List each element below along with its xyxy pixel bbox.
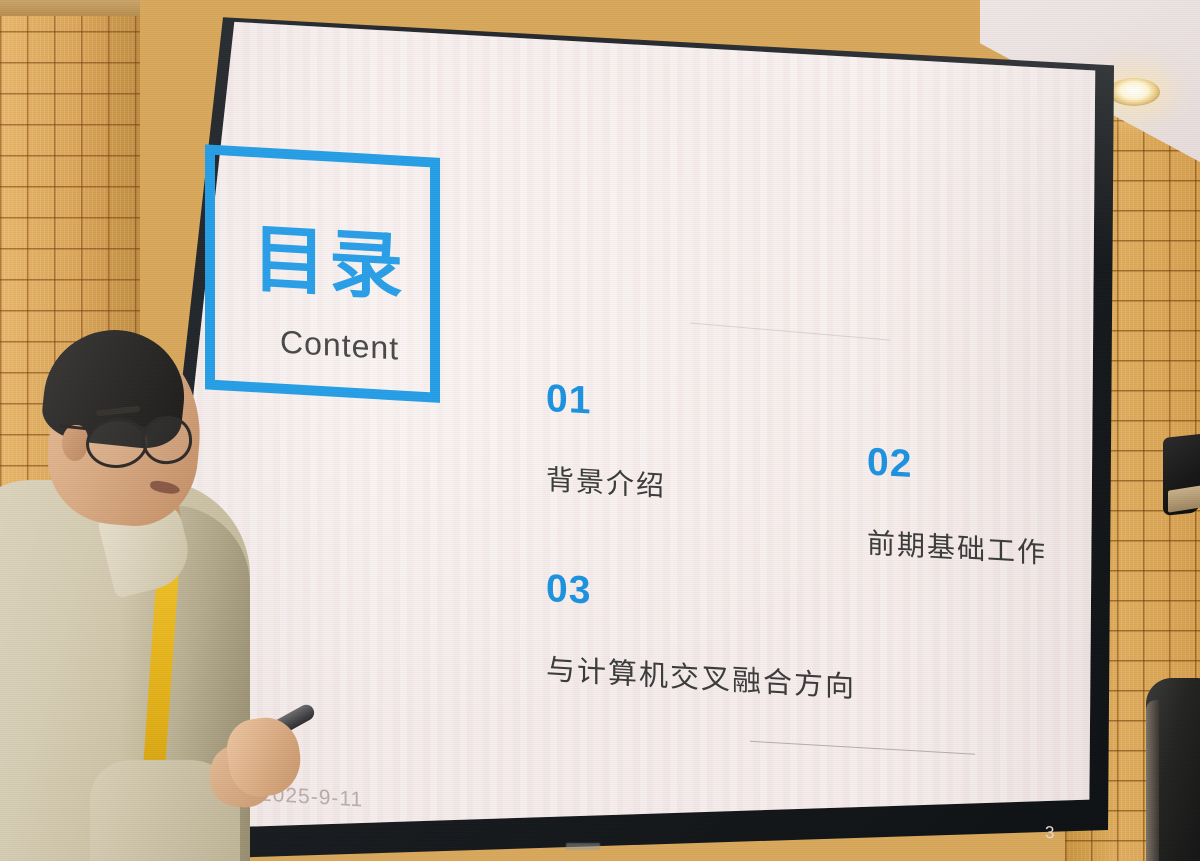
toc-item-02[interactable]: 02 前期基础工作 <box>867 442 1047 567</box>
toc-heading-cn: 目录 <box>252 222 406 305</box>
toc-item-03[interactable]: 03 与计算机交叉融合方向 <box>546 569 856 703</box>
presenter-ear <box>62 425 88 461</box>
toc-item-01[interactable]: 01 背景介绍 <box>546 379 666 501</box>
office-chair-edge <box>1146 700 1159 861</box>
display-brand-mark <box>566 843 600 850</box>
ceiling-downlight-icon <box>1108 78 1160 106</box>
left-wall-top-trim <box>0 0 140 16</box>
slide-page-number: 3 <box>1045 823 1055 844</box>
photo-scene: 目录 Content 01 背景介绍 02 前期基础工作 03 与计算机交叉融合… <box>0 0 1200 861</box>
toc-item-01-number: 01 <box>546 379 666 425</box>
eyeglasses-bridge <box>138 427 148 430</box>
toc-item-01-label: 背景介绍 <box>546 466 666 501</box>
